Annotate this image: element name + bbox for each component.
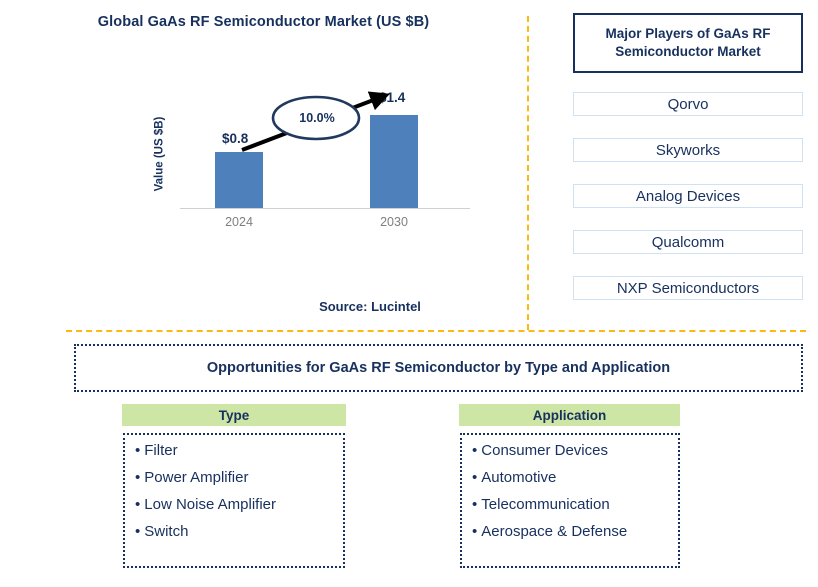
list-item: •Consumer Devices bbox=[472, 443, 668, 458]
opportunities-banner: Opportunities for GaAs RF Semiconductor … bbox=[74, 344, 803, 392]
bullet-icon: • bbox=[135, 523, 140, 540]
list-item-label: Low Noise Amplifier bbox=[144, 496, 276, 513]
chart-title: Global GaAs RF Semiconductor Market (US … bbox=[0, 14, 527, 30]
bar-2024 bbox=[215, 152, 263, 208]
cagr-label: 10.0% bbox=[288, 111, 346, 125]
vertical-divider bbox=[527, 16, 529, 330]
list-item: •Switch bbox=[135, 524, 333, 539]
chart-y-axis-label: Value (US $B) bbox=[150, 96, 168, 211]
list-item: •Low Noise Amplifier bbox=[135, 497, 333, 512]
category-label-2024: 2024 bbox=[204, 215, 274, 229]
bullet-icon: • bbox=[135, 469, 140, 486]
list-item: •Automotive bbox=[472, 470, 668, 485]
source-text: Source: Lucintel bbox=[260, 299, 480, 314]
player-item-analog-devices[interactable]: Analog Devices bbox=[573, 184, 803, 208]
horizontal-divider bbox=[66, 330, 806, 332]
chart-axis-baseline bbox=[180, 208, 470, 209]
list-item-label: Filter bbox=[144, 442, 177, 459]
list-item: •Filter bbox=[135, 443, 333, 458]
list-item-label: Consumer Devices bbox=[481, 442, 608, 459]
list-item-label: Telecommunication bbox=[481, 496, 609, 513]
bullet-icon: • bbox=[472, 523, 477, 540]
player-label: Skyworks bbox=[656, 142, 720, 159]
bullet-icon: • bbox=[472, 442, 477, 459]
bullet-icon: • bbox=[472, 496, 477, 513]
player-item-qorvo[interactable]: Qorvo bbox=[573, 92, 803, 116]
bullet-icon: • bbox=[472, 469, 477, 486]
bullet-icon: • bbox=[135, 496, 140, 513]
list-item-label: Power Amplifier bbox=[144, 469, 248, 486]
player-label: Qorvo bbox=[668, 96, 709, 113]
players-panel-header: Major Players of GaAs RF Semiconductor M… bbox=[573, 13, 803, 73]
list-item: •Power Amplifier bbox=[135, 470, 333, 485]
chart-y-axis-label-text: Value (US $B) bbox=[153, 116, 165, 191]
player-item-qualcomm[interactable]: Qualcomm bbox=[573, 230, 803, 254]
segment-header-type: Type bbox=[122, 404, 346, 426]
player-item-skyworks[interactable]: Skyworks bbox=[573, 138, 803, 162]
list-item-label: Aerospace & Defense bbox=[481, 523, 627, 540]
bullet-icon: • bbox=[135, 442, 140, 459]
player-label: Qualcomm bbox=[652, 234, 725, 251]
list-item: •Aerospace & Defense bbox=[472, 524, 668, 539]
player-label: Analog Devices bbox=[636, 188, 740, 205]
segment-list-type: •Filter •Power Amplifier •Low Noise Ampl… bbox=[123, 433, 345, 568]
list-item: •Telecommunication bbox=[472, 497, 668, 512]
player-item-nxp-semiconductors[interactable]: NXP Semiconductors bbox=[573, 276, 803, 300]
list-item-label: Automotive bbox=[481, 469, 556, 486]
segment-list-application: •Consumer Devices •Automotive •Telecommu… bbox=[460, 433, 680, 568]
segment-header-application: Application bbox=[459, 404, 680, 426]
list-item-label: Switch bbox=[144, 523, 188, 540]
player-label: NXP Semiconductors bbox=[617, 280, 759, 297]
category-label-2030: 2030 bbox=[359, 215, 429, 229]
